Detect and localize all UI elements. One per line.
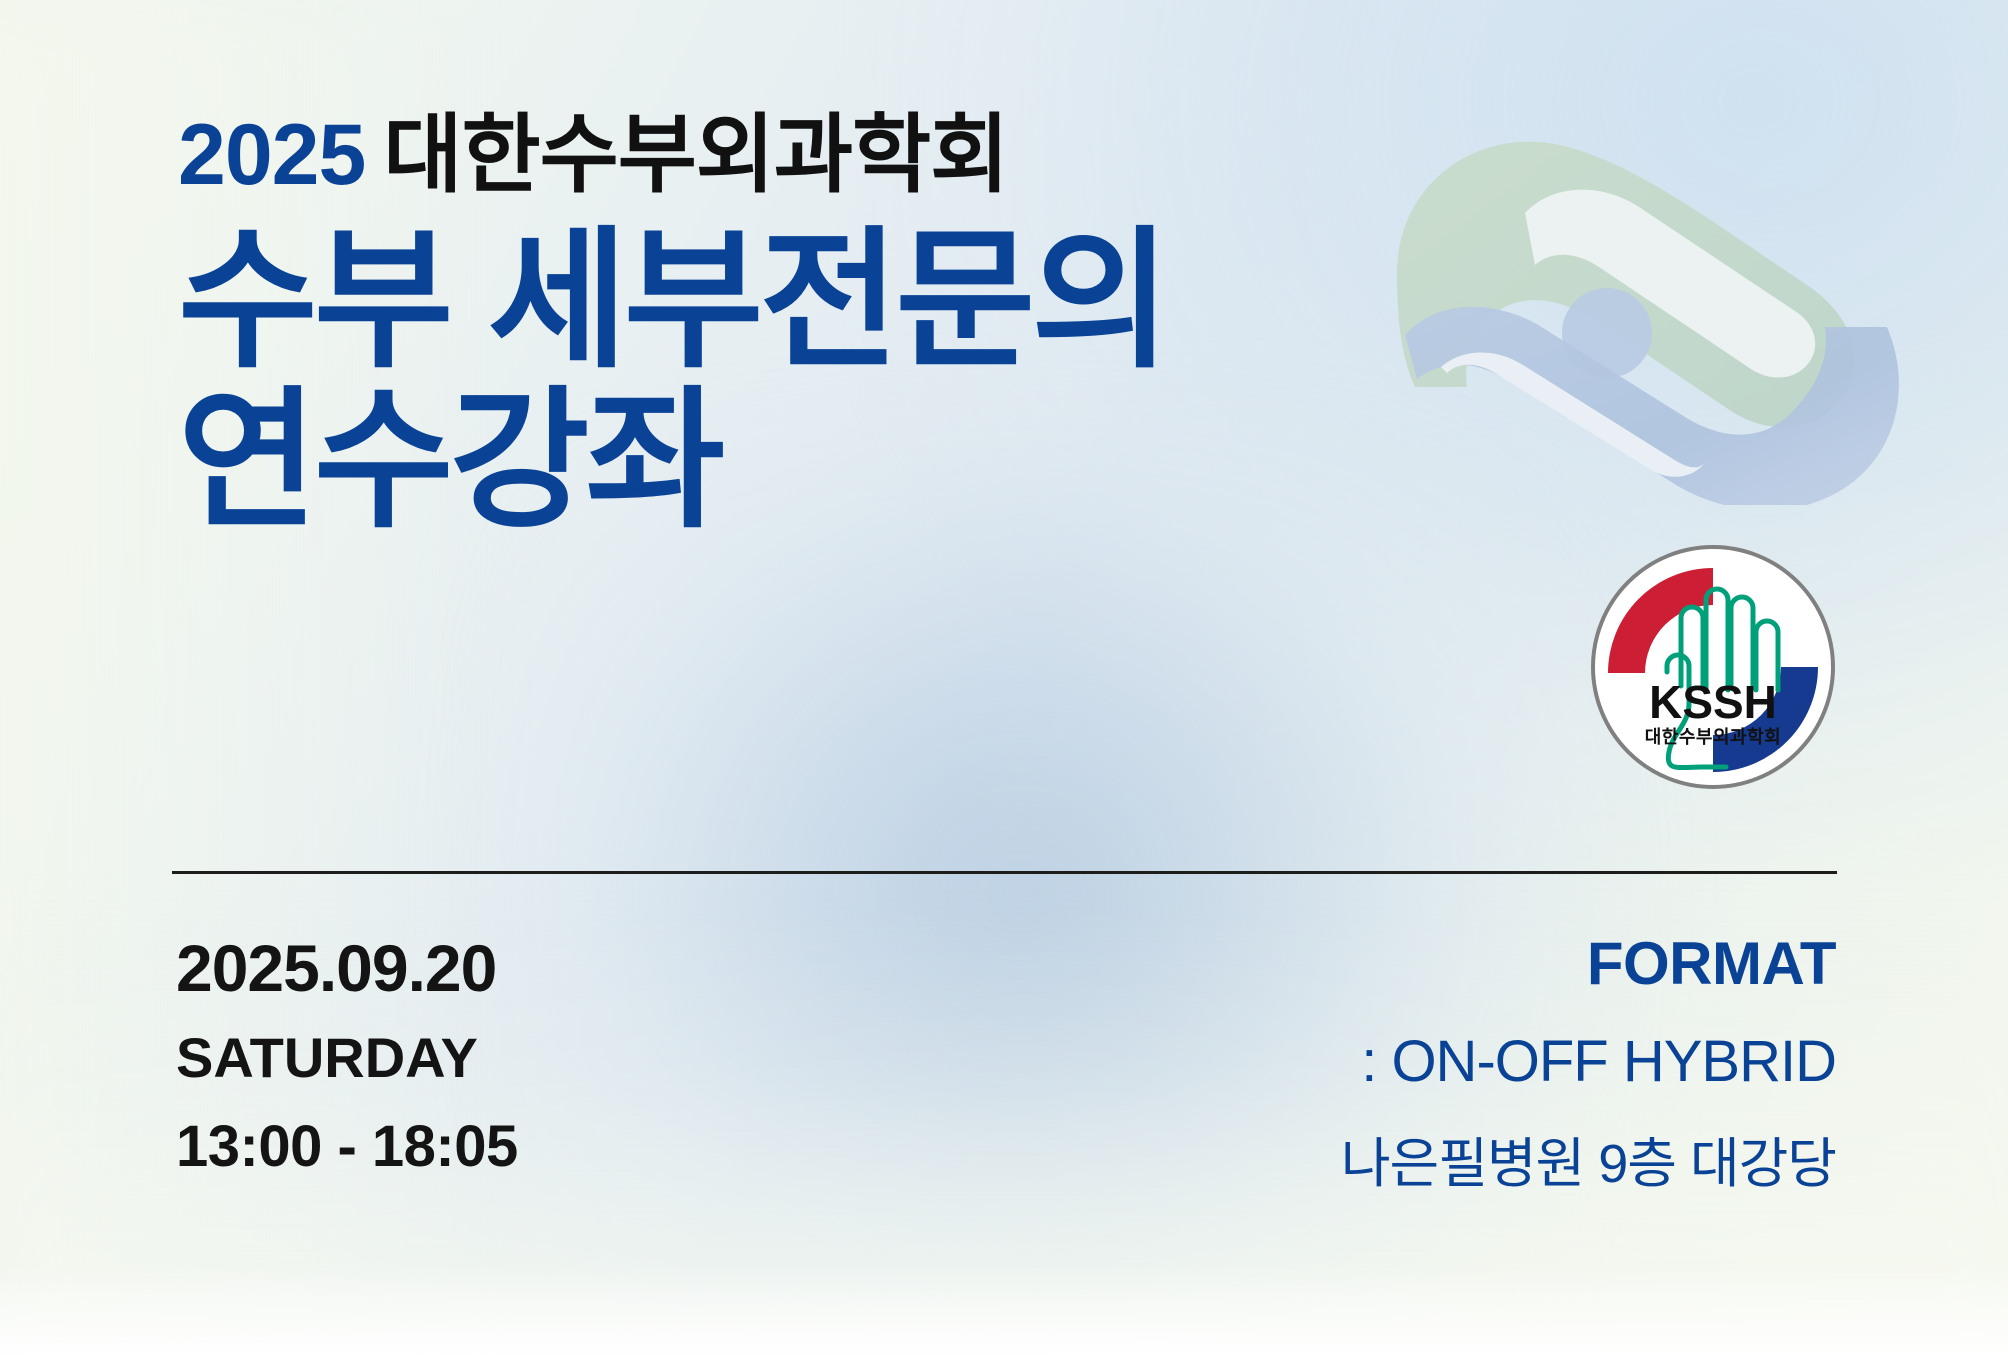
- event-datetime-block: 2025.09.20 SATURDAY 13:00 - 18:05: [176, 930, 518, 1183]
- headline-line-org: 2025대한수부외과학회: [178, 112, 1438, 198]
- event-venue: 나은필병원 9층 대강당: [1341, 1129, 1836, 1199]
- headline-year: 2025: [178, 107, 365, 203]
- event-weekday: SATURDAY: [176, 1022, 518, 1095]
- format-value: : ON-OFF HYBRID: [1341, 1024, 1836, 1099]
- headline-block: 2025대한수부외과학회 수부 세부전문의 연수강좌: [178, 112, 1438, 546]
- kssh-logo: KSSH 대한수부외과학회: [1584, 538, 1842, 796]
- poster-canvas: 2025대한수부외과학회 수부 세부전문의 연수강좌 KSSH 대한수부외과학회: [0, 0, 2008, 1359]
- format-label: FORMAT: [1341, 928, 1836, 1000]
- event-time-range: 13:00 - 18:05: [176, 1111, 518, 1184]
- event-date: 2025.09.20: [176, 930, 518, 1008]
- headline-line-subspecialty: 수부 세부전문의: [178, 216, 1438, 386]
- event-format-block: FORMAT : ON-OFF HYBRID 나은필병원 9층 대강당: [1341, 928, 1836, 1200]
- logo-acronym-text: KSSH: [1649, 676, 1777, 728]
- background-white-strip-bottom: [0, 1264, 2008, 1359]
- headline-organization: 대한수부외과학회: [383, 107, 1008, 203]
- horizontal-divider: [172, 871, 1837, 874]
- logo-korean-name-text: 대한수부외과학회: [1645, 726, 1781, 747]
- headline-line-course: 연수강좌: [178, 376, 1438, 546]
